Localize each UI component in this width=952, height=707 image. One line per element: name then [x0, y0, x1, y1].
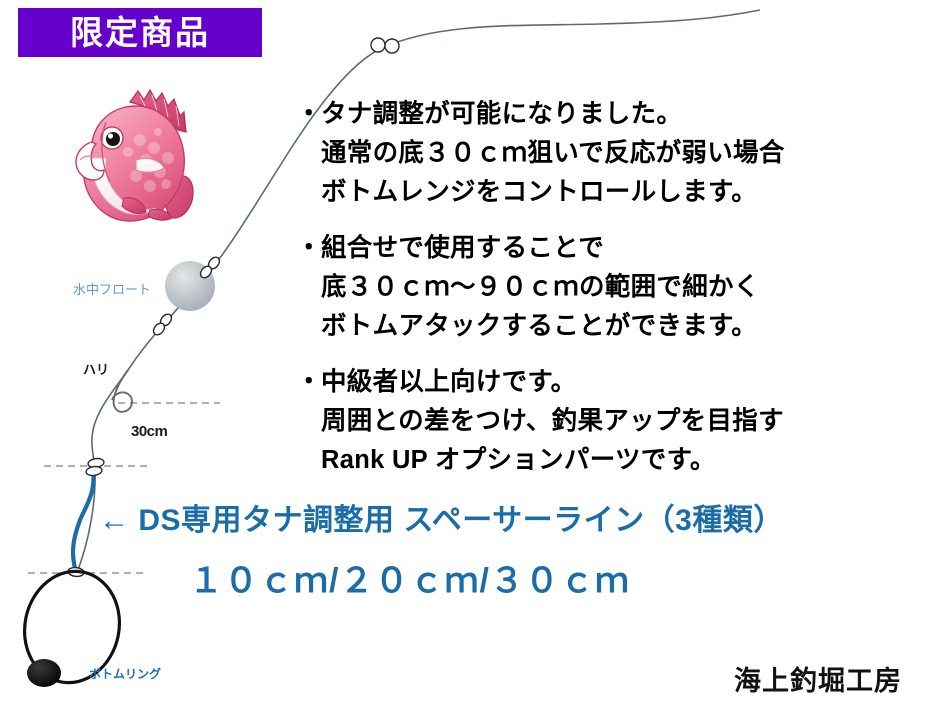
- bullet-line-text: ボトムアタックすることができます。: [296, 307, 896, 346]
- bullet-line-text: 周囲との差をつけ、釣果アップを目指す: [296, 402, 896, 441]
- spacer-line-callout-headline: ← DS専用タナ調整用 スペーサーライン（3種類）: [99, 503, 784, 539]
- sea-bream-fish-icon: [62, 86, 194, 226]
- sinker-weight-icon: [27, 659, 61, 687]
- depth-measurement-label: 30cm: [131, 424, 167, 439]
- hook-label: ハリ: [83, 363, 109, 376]
- swivel-icon: [151, 321, 166, 337]
- bullet-line-text: 通常の底３０ｃｍ狙いで反応が弱い場合: [296, 134, 896, 173]
- underwater-float-label: 水中フロート: [73, 283, 151, 296]
- product-infographic: 限定商品: [0, 0, 952, 707]
- bullet-marker-icon: ・: [296, 229, 321, 268]
- bullet-line-text: タナ調整が可能になりました。: [321, 100, 682, 128]
- bullet-marker-icon: ・: [296, 95, 321, 134]
- bullet-marker-icon: ・: [296, 363, 321, 402]
- bullet-line-text: Rank UP オプションパーツです。: [296, 441, 896, 480]
- limited-product-badge: 限定商品: [18, 8, 262, 57]
- swivel-icon: [87, 458, 104, 469]
- brand-name: 海上釣堀工房: [734, 665, 902, 697]
- bullet-line-text: 底３０ｃｍ〜９０ｃｍの範囲で細かく: [296, 268, 896, 307]
- swivel-icon: [158, 312, 173, 328]
- bullet-item: ・タナ調整が可能になりました。 通常の底３０ｃｍ狙いで反応が弱い場合 ボトムレン…: [296, 95, 896, 212]
- bullet-item: ・中級者以上向けです。 周囲との差をつけ、釣果アップを目指す Rank UP オ…: [296, 363, 896, 480]
- swivel-icon: [371, 38, 385, 52]
- swivel-icon: [68, 567, 85, 577]
- feature-bullet-list: ・タナ調整が可能になりました。 通常の底３０ｃｍ狙いで反応が弱い場合 ボトムレン…: [296, 95, 896, 497]
- spacer-line-segment: [73, 470, 94, 572]
- swivel-icon: [385, 39, 399, 53]
- swivel-icon: [206, 255, 221, 271]
- swivel-icon: [198, 264, 213, 280]
- underwater-float-icon: [165, 261, 215, 311]
- bullet-line-text: ボトムレンジをコントロールします。: [296, 173, 896, 212]
- bottom-ring-label: ボトムリング: [89, 668, 161, 680]
- hook-shape: [112, 370, 132, 412]
- swivel-icon: [85, 466, 102, 477]
- spacer-line-sizes: １０ｃｍ/２０ｃｍ/３０ｃｍ: [189, 561, 630, 602]
- bullet-line-text: 中級者以上向けです。: [321, 368, 576, 396]
- bullet-item: ・組合せで使用することで 底３０ｃｍ〜９０ｃｍの範囲で細かく ボトムアタックする…: [296, 229, 896, 346]
- limited-product-badge-label: 限定商品: [70, 16, 210, 49]
- bullet-line-text: 組合せで使用することで: [321, 234, 604, 262]
